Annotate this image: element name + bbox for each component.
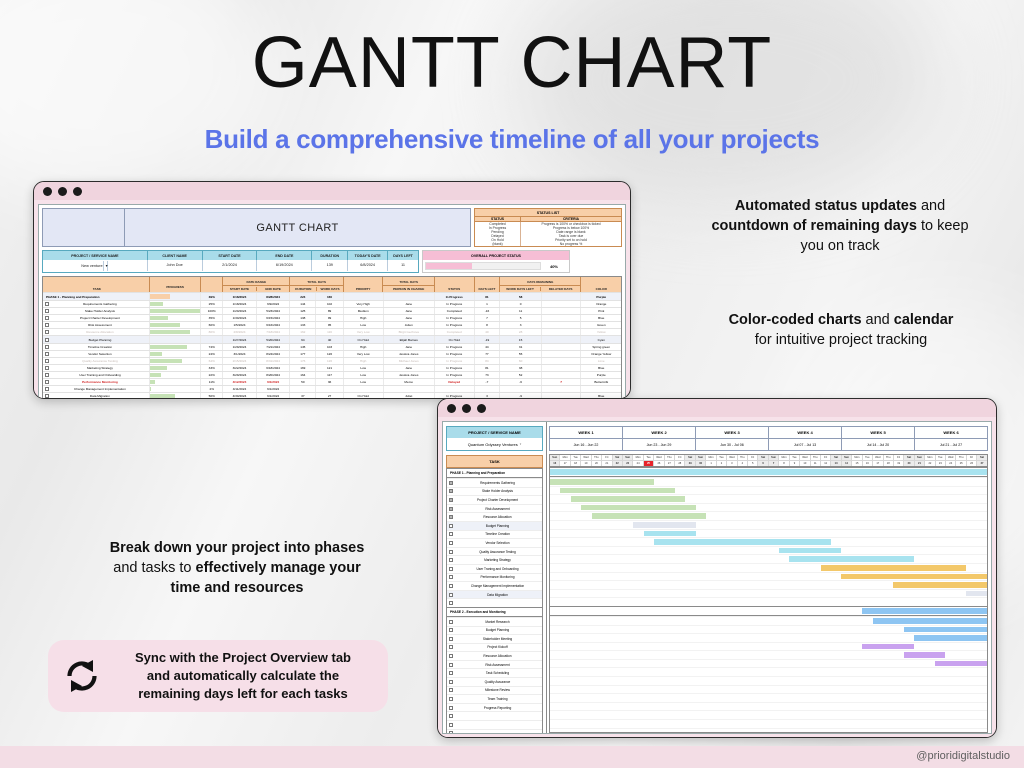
cell-ed: 8/28/2024 — [257, 293, 291, 300]
gantt-task-name: Data Migration — [453, 593, 542, 597]
day-number: 6 — [758, 460, 767, 466]
gantt-bar-row[interactable] — [550, 537, 987, 546]
cell-sd: 1/18/2024 — [223, 293, 257, 300]
gantt-task-row[interactable]: Performance Monitoring — [447, 573, 542, 582]
task-checkbox[interactable] — [45, 387, 49, 391]
cell-wdl: 58 — [500, 293, 542, 300]
cell-dd — [542, 358, 582, 364]
gantt-task-row[interactable]: Task Scheduling — [447, 668, 542, 677]
task-checkbox[interactable] — [45, 338, 49, 342]
gantt-bar[interactable] — [581, 505, 695, 511]
gantt-task-row[interactable]: Quality Assurance — [447, 677, 542, 686]
cell-dl: 81 — [475, 365, 501, 371]
cell-dur: 144 — [290, 301, 316, 307]
cell-wd: 117 — [316, 372, 344, 378]
gantt-bar-row[interactable] — [550, 667, 987, 676]
cell-ed: 6/16/2024 — [257, 322, 291, 328]
task-cell[interactable]: User Training and Onboarding — [43, 372, 150, 378]
gantt-task-row[interactable]: Risk Assessment — [447, 660, 542, 669]
gantt-task-row[interactable]: Project Kickoff — [447, 643, 542, 652]
gantt-bar-row[interactable] — [550, 554, 987, 563]
gantt-bar-row[interactable] — [550, 659, 987, 668]
sync-line-3: remaining days left for each tasks — [112, 685, 374, 703]
gantt-task-name: Quality Assurance — [453, 680, 542, 684]
anno-color-line-2: for intuitive project tracking — [676, 330, 1006, 350]
anno-color-bold-1: Color-coded charts — [729, 312, 862, 328]
cell-dur: 176 — [290, 358, 316, 364]
cell-col: Blue — [581, 365, 621, 371]
task-name: Performance Monitoring — [51, 380, 149, 384]
day-header: Sun23 — [623, 455, 633, 466]
day-number: 29 — [685, 460, 694, 466]
task-checkbox[interactable] — [45, 359, 49, 363]
status-criteria: No progress % — [521, 242, 621, 246]
gantt-bar-row[interactable] — [550, 597, 987, 606]
cell-st: In Progress — [435, 372, 475, 378]
cell-st: In Progress — [435, 358, 475, 364]
window-minimize-dot-icon[interactable] — [462, 404, 471, 413]
task-checkbox[interactable] — [45, 380, 49, 384]
annotation-break-down: Break down your project into phases and … — [72, 538, 402, 598]
task-grid[interactable]: .TASK .PROGRESS . DATE RANGESTART DATEEN… — [42, 276, 622, 399]
gantt-bar-row[interactable] — [550, 650, 987, 659]
anno-status-bold-2: countdown of remaining days — [711, 218, 916, 234]
value-project-name[interactable]: New venture▾ — [43, 260, 148, 271]
task-checkbox[interactable] — [45, 345, 49, 349]
col-delayed-days: DELAYED DAYS — [540, 287, 581, 291]
task-cell[interactable]: Requirements Gathering — [43, 301, 150, 307]
gantt-bar[interactable] — [904, 652, 946, 658]
table-row[interactable]: Risk Assessment60%1/5/20246/16/202413395… — [43, 321, 621, 328]
gantt-task-name: Performance Monitoring — [453, 575, 542, 579]
cell-col: Orange Yellow — [581, 351, 621, 357]
task-cell[interactable]: Quality Assurance Testing — [43, 358, 150, 364]
cell-dur: 125 — [290, 308, 316, 314]
task-cell[interactable]: Budget Planning — [43, 336, 150, 342]
status-list-title: STATUS LIST — [475, 209, 621, 216]
progress-bar-cell — [150, 301, 201, 307]
status-list-col-status: STATUS — [475, 217, 521, 221]
gantt-task-row[interactable]: Change Management Implementation — [447, 581, 542, 590]
cell-wd: 95 — [316, 322, 344, 328]
table-row[interactable]: Project Charter Development35%1/30/20246… — [43, 314, 621, 321]
header-duration: DURATION — [312, 251, 348, 260]
gantt-task-row[interactable] — [447, 720, 542, 729]
table-row[interactable]: Stake Holder Analysis100%1/20/20245/23/2… — [43, 307, 621, 314]
gantt-bar-row[interactable] — [550, 642, 987, 651]
gantt-task-row[interactable]: Market Research — [447, 617, 542, 626]
overall-status-progressbar — [425, 262, 541, 270]
task-cell[interactable]: Resource Allocation — [43, 329, 150, 335]
cell-dl: 73 — [475, 372, 501, 378]
gantt-task-row[interactable]: Progress Reporting — [447, 703, 542, 712]
gantt-bar[interactable] — [633, 522, 695, 528]
window-maximize-dot-icon[interactable] — [73, 187, 82, 196]
gantt-project-selector[interactable]: PROJECT / SERVICE NAME Quantum Odyssey V… — [446, 426, 543, 451]
gantt-bar-row[interactable] — [550, 580, 987, 589]
cell-per: Jane — [384, 308, 435, 314]
gantt-bar-row[interactable] — [550, 529, 987, 538]
gantt-task-row[interactable]: Stakeholder Meeting — [447, 634, 542, 643]
table-row[interactable]: Performance Monitoring11%4/12/20246/1/20… — [43, 378, 621, 385]
gantt-task-name: Budget Planning — [453, 628, 542, 632]
task-cell[interactable]: Vendor Selection — [43, 351, 150, 357]
gantt-task-row[interactable]: Project Charter Development — [447, 495, 542, 504]
task-checkbox[interactable] — [45, 373, 49, 377]
gantt-bar-row[interactable] — [550, 572, 987, 581]
gantt-task-row[interactable]: Stake Holder Analysis — [447, 487, 542, 496]
week-header: WEEK 3Jun 30 - Jul 06 — [695, 426, 768, 451]
footer-strip — [0, 746, 1024, 768]
anno-phases-bold-3: time and resources — [171, 580, 304, 596]
header-project-name: PROJECT / SERVICE NAME — [43, 251, 148, 260]
col-color: COLOR — [581, 287, 621, 291]
gantt-task-row[interactable]: Requirements Gathering — [447, 478, 542, 487]
poster-canvas: GANTT CHART Build a comprehensive timeli… — [0, 0, 1024, 768]
gantt-bar[interactable] — [821, 565, 967, 571]
cell-sd: 3/22/2024 — [223, 365, 257, 371]
window-minimize-dot-icon[interactable] — [58, 187, 67, 196]
task-checkbox[interactable] — [45, 316, 49, 320]
task-name: Requirements Gathering — [51, 302, 149, 306]
day-header: Fri26 — [967, 455, 977, 466]
day-number: 23 — [623, 460, 632, 466]
gantt-bar-row[interactable] — [550, 719, 987, 728]
gantt-bar-row[interactable] — [550, 546, 987, 555]
week-label: WEEK 6 — [915, 427, 987, 439]
window-close-dot-icon[interactable] — [447, 404, 456, 413]
week-range: Jul 07 - Jul 13 — [769, 439, 841, 450]
progress-bar-cell — [150, 344, 201, 350]
cell-wdl: 3 — [500, 322, 542, 328]
task-checkbox[interactable] — [45, 330, 49, 334]
table-row[interactable]: Budget Planning1/27/20245/20/20249440On … — [43, 335, 621, 342]
gantt-bar-row[interactable] — [550, 710, 987, 719]
value-client-name[interactable]: John Doe — [148, 260, 203, 271]
gantt-task-row[interactable]: Marketing Strategy — [447, 555, 542, 564]
cell-st: In Progress — [435, 344, 475, 350]
phase-row[interactable]: PHASE 1 - Planning and Preparation39%1/1… — [43, 292, 621, 300]
table-row[interactable]: Timeline Creation74%1/29/20247/21/202414… — [43, 343, 621, 350]
header-start-date: START DATE — [203, 251, 258, 260]
gantt-bar[interactable] — [862, 644, 914, 650]
gantt-bar[interactable] — [873, 618, 987, 624]
day-number: 20 — [592, 460, 601, 466]
gantt-task-name: Budget Planning — [453, 524, 542, 528]
task-checkbox[interactable] — [45, 352, 49, 356]
gantt-bar-row[interactable] — [550, 494, 987, 503]
day-header: Sat20 — [904, 455, 914, 466]
gantt-task-row[interactable] — [447, 598, 542, 607]
cell-dd — [542, 322, 582, 328]
chevron-down-icon[interactable]: ▾ — [106, 261, 109, 271]
progress-fill — [150, 302, 163, 306]
gantt-project-value[interactable]: Quantum Odyssey Ventures▾ — [447, 438, 542, 450]
task-cell[interactable]: Project Charter Development — [43, 315, 150, 321]
gantt-calendar-sheet[interactable]: PROJECT / SERVICE NAME Quantum Odyssey V… — [442, 421, 992, 734]
gantt-task-checkbox[interactable] — [449, 601, 453, 605]
gantt-bar-row[interactable] — [550, 511, 987, 520]
task-cell[interactable]: Marketing Strategy — [43, 365, 150, 371]
day-number: 20 — [904, 460, 913, 466]
gantt-task-row[interactable]: Data Migration — [447, 590, 542, 599]
col-date-range: DATE RANGE — [223, 279, 289, 286]
gantt-task-row[interactable]: Resource Allocation — [447, 651, 542, 660]
cell-ed: 6/15/2024 — [257, 315, 291, 321]
gantt-bar[interactable] — [550, 479, 654, 485]
value-end-date[interactable]: 6/19/2024 — [257, 260, 312, 271]
gantt-calendar-window[interactable]: PROJECT / SERVICE NAME Quantum Odyssey V… — [437, 398, 997, 738]
table-row[interactable]: Resource Allocation80%2/8/20247/18/20241… — [43, 328, 621, 335]
gantt-task-row[interactable]: Team Training — [447, 694, 542, 703]
cell-wdl: 28 — [500, 329, 542, 335]
gantt-bar-row[interactable] — [550, 676, 987, 685]
cell-wd: 99 — [316, 315, 344, 321]
sync-badge-text: Sync with the Project Overview tab and a… — [112, 649, 374, 702]
cell-per: Memo — [384, 379, 435, 385]
cell-dl: -16 — [475, 308, 501, 314]
gantt-timeline-panel[interactable]: WEEK 1Jun 16 - Jun 22WEEK 2Jun 23 - Jun … — [547, 422, 991, 733]
day-number: 8 — [779, 460, 788, 466]
cell-pri: Low — [344, 379, 384, 385]
cell-col: Buttermilk — [581, 379, 621, 385]
task-checkbox[interactable] — [45, 323, 49, 327]
col-days-left: DAYS LEFT — [475, 287, 500, 291]
progress-bar-cell — [150, 322, 201, 328]
task-grid-rows[interactable]: PHASE 1 - Planning and Preparation39%1/1… — [43, 292, 621, 399]
gantt-task-list[interactable]: PHASE 1 - Planning and PreparationRequir… — [446, 468, 543, 734]
value-start-date[interactable]: 2/1/2024 — [203, 260, 258, 271]
gantt-task-row[interactable] — [447, 729, 542, 734]
cell-sd: 4/11/2024 — [223, 386, 257, 392]
cell-dl: 40 — [475, 329, 501, 335]
chevron-down-icon[interactable]: ▾ — [520, 442, 522, 446]
gantt-task-row[interactable]: Quality Assurance Testing — [447, 547, 542, 556]
task-cell[interactable]: Change Management Implementation — [43, 386, 150, 392]
gantt-bar-row[interactable] — [550, 589, 987, 598]
cell-col: Blue — [581, 315, 621, 321]
status-list-col-criteria: CRITERIA — [521, 217, 621, 221]
project-info-row: PROJECT / SERVICE NAME CLIENT NAME START… — [39, 250, 625, 276]
gantt-bar[interactable] — [779, 548, 841, 554]
day-number: 22 — [613, 460, 622, 466]
gantt-bar-row[interactable] — [550, 625, 987, 634]
gantt-bar[interactable] — [914, 635, 987, 641]
gantt-bar-row[interactable] — [550, 728, 987, 733]
cell-ed: 7/18/2024 — [257, 329, 291, 335]
day-header: Mon15 — [852, 455, 862, 466]
task-cell[interactable]: Data Migration — [43, 393, 150, 399]
gantt-bar[interactable] — [862, 608, 987, 614]
overall-status-label: OVERALL PROJECT STATUS — [423, 251, 569, 260]
table-row[interactable]: Requirements Gathering25%1/18/20246/9/20… — [43, 300, 621, 307]
table-row[interactable]: Quality Assurance Testing64%2/15/20248/3… — [43, 357, 621, 364]
cell-pct: 35% — [201, 315, 223, 321]
col-end-date: END DATE — [256, 287, 290, 291]
cell-sd: 1/5/2024 — [223, 322, 257, 328]
cell-dur — [290, 386, 316, 392]
gantt-task-name: PHASE 2 - Execution and Monitoring — [447, 610, 542, 614]
progress-bar-cell — [150, 358, 201, 364]
cell-wd: 40 — [316, 336, 344, 342]
day-number: 16 — [863, 460, 872, 466]
table-row[interactable]: Change Management Implementation2%4/11/2… — [43, 385, 621, 392]
gantt-task-row[interactable]: Budget Planning — [447, 521, 542, 530]
cell-dl: 81 — [475, 293, 501, 300]
gantt-bar-row[interactable] — [550, 693, 987, 702]
week-header: WEEK 4Jul 07 - Jul 13 — [768, 426, 841, 451]
gantt-bar-row[interactable] — [550, 477, 987, 486]
task-cell[interactable]: Stake Holder Analysis — [43, 308, 150, 314]
header-todays-date: TODAY'S DATE — [348, 251, 388, 260]
gantt-bar-row[interactable] — [550, 520, 987, 529]
window-close-dot-icon[interactable] — [43, 187, 52, 196]
day-header: Sat22 — [613, 455, 623, 466]
cell-pct: 2% — [201, 386, 223, 392]
gantt-bar[interactable] — [966, 591, 987, 597]
cell-dur: 224 — [290, 293, 316, 300]
project-info-table[interactable]: PROJECT / SERVICE NAME CLIENT NAME START… — [42, 250, 419, 273]
cell-pct: 100% — [201, 308, 223, 314]
gantt-task-panel[interactable]: PROJECT / SERVICE NAME Quantum Odyssey V… — [443, 422, 547, 733]
gantt-bar-row[interactable] — [550, 563, 987, 572]
gantt-task-name: Resource Allocation — [453, 654, 542, 658]
gantt-bar[interactable] — [893, 582, 987, 588]
gantt-task-row[interactable]: Risk Assessment — [447, 504, 542, 513]
task-name: Timeline Creation — [51, 345, 149, 349]
gantt-bar-row[interactable] — [550, 633, 987, 642]
cell-col: Lime — [581, 358, 621, 364]
cell-ed: 5/23/2024 — [257, 308, 291, 314]
gantt-task-checkbox[interactable] — [449, 714, 453, 718]
gantt-task-row[interactable]: Vendor Selection — [447, 538, 542, 547]
gantt-task-row[interactable]: User Traning and Onboarding — [447, 564, 542, 573]
cell-wd — [316, 386, 344, 392]
progress-fill — [150, 330, 190, 334]
task-checkbox[interactable] — [45, 309, 49, 313]
day-header: Sun7 — [769, 455, 779, 466]
gantt-project-label: PROJECT / SERVICE NAME — [447, 427, 542, 438]
cell-st: In Progress — [435, 351, 475, 357]
gantt-bar[interactable] — [935, 661, 987, 667]
gantt-task-row[interactable]: Resource Allocation — [447, 512, 542, 521]
cell-dur: 94 — [290, 336, 316, 342]
progress-bar-cell — [150, 293, 201, 300]
cell-ed: 8/31/2024 — [257, 358, 291, 364]
gantt-bar[interactable] — [560, 488, 674, 494]
task-checkbox[interactable] — [45, 302, 49, 306]
cell-per: Jessica Jones — [384, 372, 435, 378]
gantt-bar-row[interactable] — [550, 606, 987, 616]
window-titlebar — [34, 182, 630, 200]
cell-col: Cyan — [581, 336, 621, 342]
progress-fill — [150, 366, 167, 370]
day-header: Sun21 — [915, 455, 925, 466]
day-header: Wed24 — [946, 455, 956, 466]
gantt-task-checkbox[interactable] — [449, 731, 453, 734]
cell-sd: 1/29/2024 — [223, 344, 257, 350]
gantt-bars-area[interactable] — [549, 467, 988, 733]
spreadsheet-window[interactable]: GANTT CHART STATUS LIST STATUS CRITERIA … — [33, 181, 631, 399]
cell-dl: 84 — [475, 358, 501, 364]
day-number: 19 — [581, 460, 590, 466]
task-checkbox[interactable] — [45, 366, 49, 370]
gantt-bar[interactable] — [592, 513, 706, 519]
gantt-task-row[interactable]: Budget Planning — [447, 626, 542, 635]
gantt-bar[interactable] — [550, 469, 987, 475]
cell-dd — [542, 372, 582, 378]
gantt-bar[interactable] — [654, 539, 831, 545]
cell-st: In Progress — [435, 301, 475, 307]
day-number: 5 — [748, 460, 757, 466]
gantt-bar-row[interactable] — [550, 702, 987, 711]
week-range: Jun 23 - Jun 29 — [623, 439, 695, 450]
day-number: 3 — [727, 460, 736, 466]
cell-sd: 3/1/2024 — [223, 351, 257, 357]
gantt-bar[interactable] — [644, 531, 696, 537]
gantt-phase-row[interactable]: PHASE 2 - Execution and Monitoring — [447, 607, 542, 617]
cell-dd — [542, 329, 582, 335]
header-days-left: DAYS LEFT — [388, 251, 418, 260]
task-cell[interactable]: PHASE 1 - Planning and Preparation — [43, 293, 150, 300]
day-header: Tue25 — [644, 455, 654, 466]
table-row[interactable]: Vendor Selection24%3/1/20248/24/20241771… — [43, 350, 621, 357]
gantt-task-row[interactable] — [447, 711, 542, 720]
gantt-phase-row[interactable]: PHASE 1 - Planning and Preparation — [447, 468, 542, 478]
gantt-bar-row[interactable] — [550, 467, 987, 477]
day-number: 27 — [665, 460, 674, 466]
cell-dur: 169 — [290, 365, 316, 371]
task-cell[interactable]: Timeline Creation — [43, 344, 150, 350]
gantt-day-headers: Sun16Mon17Tue18Wed19Thu20Fri21Sat22Sun23… — [549, 454, 988, 467]
day-header: Fri12 — [821, 455, 831, 466]
task-checkbox[interactable] — [45, 394, 49, 398]
cell-pct: 11% — [201, 379, 223, 385]
gantt-spreadsheet[interactable]: GANTT CHART STATUS LIST STATUS CRITERIA … — [38, 204, 626, 399]
table-row[interactable]: Marketing Strategy33%3/22/20246/18/20241… — [43, 364, 621, 371]
cell-ed: 6/1/2024 — [257, 393, 291, 399]
window-maximize-dot-icon[interactable] — [477, 404, 486, 413]
gantt-bar[interactable] — [571, 496, 685, 502]
task-name: Resource Allocation — [51, 330, 149, 334]
day-header: Sun30 — [696, 455, 706, 466]
gantt-bar-row[interactable] — [550, 486, 987, 495]
gantt-task-checkbox[interactable] — [449, 723, 453, 727]
gantt-bar-row[interactable] — [550, 616, 987, 625]
gantt-bar[interactable] — [841, 574, 987, 580]
gantt-task-row[interactable]: Timeline Creation — [447, 530, 542, 539]
day-number: 24 — [946, 460, 955, 466]
gantt-bar-row[interactable] — [550, 685, 987, 694]
project-info-headers: PROJECT / SERVICE NAME CLIENT NAME START… — [43, 251, 418, 260]
cell-ed: 6/9/2024 — [257, 301, 291, 307]
overall-status-body: 40% — [423, 260, 569, 272]
cell-wdl: 52 — [500, 372, 542, 378]
task-cell[interactable]: Risk Assessment — [43, 322, 150, 328]
annotation-color-coded: Color-coded charts and calendar for intu… — [676, 310, 1006, 350]
day-header: Sat27 — [977, 455, 986, 466]
gantt-bar-row[interactable] — [550, 503, 987, 512]
gantt-task-name: Resource Allocation — [453, 515, 542, 519]
day-header: Sun14 — [842, 455, 852, 466]
gantt-bar[interactable] — [789, 556, 914, 562]
gantt-task-row[interactable]: Milestone Review — [447, 686, 542, 695]
window-titlebar — [438, 399, 996, 417]
cell-st: In Progress — [435, 315, 475, 321]
task-cell[interactable]: Performance Monitoring — [43, 379, 150, 385]
table-row[interactable]: User Training and Onboarding22%3/29/2024… — [43, 371, 621, 378]
gantt-bar[interactable] — [904, 627, 987, 633]
